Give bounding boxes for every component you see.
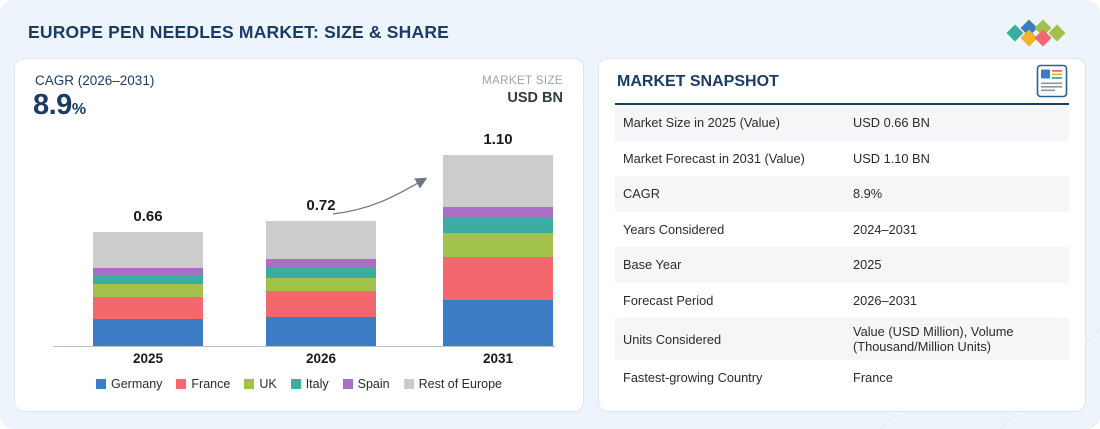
bar-2026: [266, 221, 376, 346]
snapshot-row-label: Forecast Period: [615, 287, 847, 314]
snapshot-row: Forecast Period2026–2031: [615, 283, 1069, 319]
bar-segment-uk: [266, 278, 376, 292]
snapshot-row-value: Value (USD Million), Volume (Thousand/Mi…: [847, 318, 1069, 360]
legend-label: UK: [259, 377, 276, 391]
legend-swatch: [244, 379, 254, 389]
snapshot-row-value: USD 0.66 BN: [847, 109, 1069, 136]
market-snapshot-card: MARKET SNAPSHOT Market Size in 2025 (Val…: [598, 58, 1086, 412]
legend-label: Germany: [111, 377, 162, 391]
bar-total-label-2031: 1.10: [428, 131, 568, 148]
infographic-root: EUROPE PEN NEEDLES MARKET: SIZE & SHARE …: [0, 0, 1100, 429]
bar-segment-spain: [93, 268, 203, 275]
x-axis-label-2025: 2025: [78, 351, 218, 366]
snapshot-row-label: Years Considered: [615, 216, 847, 243]
snapshot-row-value: USD 1.10 BN: [847, 145, 1069, 172]
snapshot-row-value: France: [847, 364, 1069, 391]
cagr-percent-sign: %: [72, 101, 86, 118]
bar-segment-france: [443, 257, 553, 300]
market-size-unit: USD BN: [507, 90, 563, 106]
x-axis-label-2026: 2026: [251, 351, 391, 366]
snapshot-row-value: 2026–2031: [847, 287, 1069, 314]
bar-2025: [93, 232, 203, 346]
snapshot-row-label: Market Size in 2025 (Value): [615, 109, 847, 136]
snapshot-row: CAGR8.9%: [615, 176, 1069, 212]
bar-total-label-2025: 0.66: [78, 208, 218, 225]
chart-card: CAGR (2026–2031) 8.9% MARKET SIZE USD BN…: [14, 58, 584, 412]
legend-swatch: [343, 379, 353, 389]
snapshot-row-label: Base Year: [615, 251, 847, 278]
snapshot-header: MARKET SNAPSHOT: [615, 59, 1069, 105]
snapshot-row-label: Fastest-growing Country: [615, 364, 847, 391]
legend-item-germany: Germany: [96, 377, 162, 391]
snapshot-row-value: 8.9%: [847, 180, 1069, 207]
snapshot-row-label: Market Forecast in 2031 (Value): [615, 145, 847, 172]
report-document-icon: [1035, 63, 1069, 99]
snapshot-row-label: Units Considered: [615, 326, 847, 353]
snapshot-row: Units ConsideredValue (USD Million), Vol…: [615, 318, 1069, 360]
bar-segment-rest-of-europe: [443, 155, 553, 207]
bar-segment-italy: [443, 218, 553, 233]
snapshot-title: MARKET SNAPSHOT: [617, 73, 779, 91]
legend-swatch: [176, 379, 186, 389]
bar-segment-uk: [93, 284, 203, 296]
legend-swatch: [96, 379, 106, 389]
bar-segment-germany: [443, 300, 553, 346]
bar-segment-rest-of-europe: [93, 232, 203, 268]
snapshot-table: Market Size in 2025 (Value)USD 0.66 BNMa…: [615, 105, 1069, 396]
x-axis-label-2031: 2031: [428, 351, 568, 366]
snapshot-row: Base Year2025: [615, 247, 1069, 283]
legend-swatch: [404, 379, 414, 389]
legend-label: France: [191, 377, 230, 391]
bar-segment-italy: [93, 275, 203, 285]
bar-segment-germany: [93, 319, 203, 346]
bar-segment-rest-of-europe: [266, 221, 376, 259]
legend-item-italy: Italy: [291, 377, 329, 391]
bar-segment-spain: [266, 259, 376, 267]
brand-diamond-logo: [1002, 18, 1070, 48]
legend-swatch: [291, 379, 301, 389]
x-axis-line: [53, 346, 555, 347]
x-axis-labels: 202520262031: [33, 351, 567, 371]
legend-item-france: France: [176, 377, 230, 391]
bar-segment-germany: [266, 317, 376, 346]
bar-segment-uk: [443, 233, 553, 257]
header: EUROPE PEN NEEDLES MARKET: SIZE & SHARE: [0, 0, 1100, 62]
snapshot-row: Market Forecast in 2031 (Value)USD 1.10 …: [615, 141, 1069, 177]
legend-item-uk: UK: [244, 377, 276, 391]
bar-segment-france: [93, 297, 203, 320]
bar-segment-italy: [266, 267, 376, 277]
cagr-label: CAGR (2026–2031): [35, 73, 154, 88]
legend-label: Spain: [358, 377, 390, 391]
bar-segment-france: [266, 291, 376, 316]
snapshot-row: Fastest-growing CountryFrance: [615, 360, 1069, 396]
snapshot-row-value: 2024–2031: [847, 216, 1069, 243]
snapshot-row-label: CAGR: [615, 180, 847, 207]
legend-label: Rest of Europe: [419, 377, 502, 391]
bar-segment-spain: [443, 207, 553, 217]
snapshot-row: Market Size in 2025 (Value)USD 0.66 BN: [615, 105, 1069, 141]
legend-label: Italy: [306, 377, 329, 391]
market-size-label: MARKET SIZE: [482, 75, 563, 87]
legend-item-spain: Spain: [343, 377, 390, 391]
bar-2031: [443, 155, 553, 346]
page-title: EUROPE PEN NEEDLES MARKET: SIZE & SHARE: [28, 22, 449, 43]
legend-item-rest-of-europe: Rest of Europe: [404, 377, 502, 391]
bar-total-label-2026: 0.72: [251, 197, 391, 214]
chart-legend: GermanyFranceUKItalySpainRest of Europe: [15, 377, 583, 391]
snapshot-row-value: 2025: [847, 251, 1069, 278]
stacked-bar-chart: 0.660.721.10: [33, 117, 567, 347]
snapshot-row: Years Considered2024–2031: [615, 212, 1069, 248]
